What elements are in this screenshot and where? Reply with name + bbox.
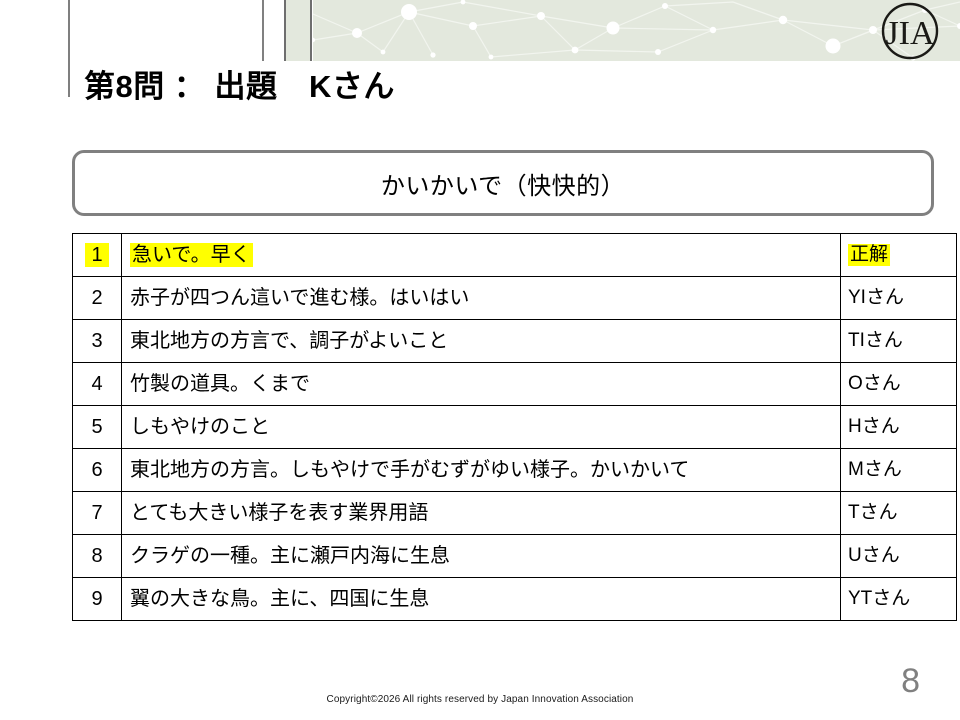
row-description-cell: 東北地方の方言。しもやけで手がむずがゆい様子。かいかいて bbox=[122, 449, 841, 492]
header-band-segment-left bbox=[286, 0, 310, 61]
table-row[interactable]: 3 東北地方の方言で、調子がよいこと TIさん bbox=[73, 320, 957, 363]
row-description-text: 竹製の道具。くまで bbox=[130, 373, 310, 395]
row-answer-cell: TIさん bbox=[841, 320, 957, 363]
jia-logo-text: JIA bbox=[885, 15, 935, 52]
row-description-cell: 翼の大きな鳥。主に、四国に生息 bbox=[122, 578, 841, 621]
row-description-text: クラゲの一種。主に瀬戸内海に生息 bbox=[130, 545, 450, 567]
row-answer-text: Oさん bbox=[848, 374, 901, 395]
page-number: 8 bbox=[901, 662, 920, 701]
row-description-cell: 東北地方の方言で、調子がよいこと bbox=[122, 320, 841, 363]
table-row[interactable]: 9 翼の大きな鳥。主に、四国に生息 YTさん bbox=[73, 578, 957, 621]
jia-logo: JIA bbox=[854, 2, 960, 60]
row-number-text: 6 bbox=[91, 459, 102, 481]
header-decorative-band: JIA bbox=[0, 0, 960, 61]
row-description-cell: 赤子が四つん這いで進む様。はいはい bbox=[122, 277, 841, 320]
page-title: 第8問 ： 出題 Kさん bbox=[84, 68, 395, 105]
row-answer-text: Uさん bbox=[848, 546, 900, 567]
row-answer-text: TIさん bbox=[848, 331, 903, 352]
table-row[interactable]: 4 竹製の道具。くまで Oさん bbox=[73, 363, 957, 406]
row-answer-cell: Uさん bbox=[841, 535, 957, 578]
table-row[interactable]: 1 急いで。早く 正解 bbox=[73, 234, 957, 277]
answers-table: 1 急いで。早く 正解 2 赤子が四つん這いで進む様。はいはい YIさん 3 東… bbox=[72, 233, 957, 621]
row-answer-text: YTさん bbox=[848, 589, 910, 610]
row-description-text: 翼の大きな鳥。主に、四国に生息 bbox=[130, 588, 429, 610]
question-text: かいかいで（快快的） bbox=[381, 166, 625, 201]
row-answer-cell: Oさん bbox=[841, 363, 957, 406]
row-number-cell: 9 bbox=[73, 578, 122, 621]
row-answer-cell: Hさん bbox=[841, 406, 957, 449]
row-description-text: とても大きい様子を表す業界用語 bbox=[130, 502, 428, 524]
table-row[interactable]: 7 とても大きい様子を表す業界用語 Tさん bbox=[73, 492, 957, 535]
row-number-text: 9 bbox=[91, 588, 102, 610]
row-description-cell: とても大きい様子を表す業界用語 bbox=[122, 492, 841, 535]
footer-copyright: Copyright©2026 All rights reserved by Ja… bbox=[0, 694, 960, 705]
row-number-cell: 8 bbox=[73, 535, 122, 578]
row-description-text: 東北地方の方言。しもやけで手がむずがゆい様子。かいかいて bbox=[130, 459, 689, 481]
table-row[interactable]: 6 東北地方の方言。しもやけで手がむずがゆい様子。かいかいて Mさん bbox=[73, 449, 957, 492]
row-number-text: 4 bbox=[91, 373, 102, 395]
row-number-cell: 6 bbox=[73, 449, 122, 492]
table-row[interactable]: 8 クラゲの一種。主に瀬戸内海に生息 Uさん bbox=[73, 535, 957, 578]
row-number-cell: 1 bbox=[73, 234, 122, 277]
row-answer-cell: YTさん bbox=[841, 578, 957, 621]
row-number-text: 7 bbox=[91, 502, 102, 524]
question-box: かいかいで（快快的） bbox=[72, 150, 934, 216]
row-number-text: 1 bbox=[85, 243, 108, 267]
row-description-cell: 急いで。早く bbox=[122, 234, 841, 277]
table-row[interactable]: 2 赤子が四つん這いで進む様。はいはい YIさん bbox=[73, 277, 957, 320]
row-number-cell: 4 bbox=[73, 363, 122, 406]
row-number-text: 5 bbox=[91, 416, 102, 438]
row-number-text: 3 bbox=[91, 330, 102, 352]
row-description-cell: 竹製の道具。くまで bbox=[122, 363, 841, 406]
row-number-cell: 7 bbox=[73, 492, 122, 535]
row-answer-cell: YIさん bbox=[841, 277, 957, 320]
row-description-cell: しもやけのこと bbox=[122, 406, 841, 449]
table-row[interactable]: 5 しもやけのこと Hさん bbox=[73, 406, 957, 449]
row-description-text: しもやけのこと bbox=[130, 416, 270, 438]
answers-table-body: 1 急いで。早く 正解 2 赤子が四つん這いで進む様。はいはい YIさん 3 東… bbox=[73, 234, 957, 621]
header-rule-left bbox=[68, 0, 70, 97]
row-description-text: 東北地方の方言で、調子がよいこと bbox=[130, 330, 448, 352]
row-answer-text: Mさん bbox=[848, 460, 902, 481]
row-description-cell: クラゲの一種。主に瀬戸内海に生息 bbox=[122, 535, 841, 578]
row-answer-text: Hさん bbox=[848, 417, 900, 438]
row-answer-cell: Mさん bbox=[841, 449, 957, 492]
row-answer-text: YIさん bbox=[848, 288, 904, 309]
row-number-text: 8 bbox=[91, 545, 102, 567]
header-rule-band-start bbox=[284, 0, 286, 61]
row-answer-cell: 正解 bbox=[841, 234, 957, 277]
header-rule-band-inner bbox=[310, 0, 312, 61]
row-answer-cell: Tさん bbox=[841, 492, 957, 535]
header-rule-mid bbox=[262, 0, 264, 61]
row-description-text: 急いで。早く bbox=[130, 243, 253, 267]
row-answer-text: Tさん bbox=[848, 503, 898, 524]
row-number-cell: 5 bbox=[73, 406, 122, 449]
row-number-cell: 2 bbox=[73, 277, 122, 320]
row-description-text: 赤子が四つん這いで進む様。はいはい bbox=[130, 287, 469, 309]
row-answer-text: 正解 bbox=[848, 244, 890, 267]
row-number-cell: 3 bbox=[73, 320, 122, 363]
row-number-text: 2 bbox=[91, 287, 102, 309]
